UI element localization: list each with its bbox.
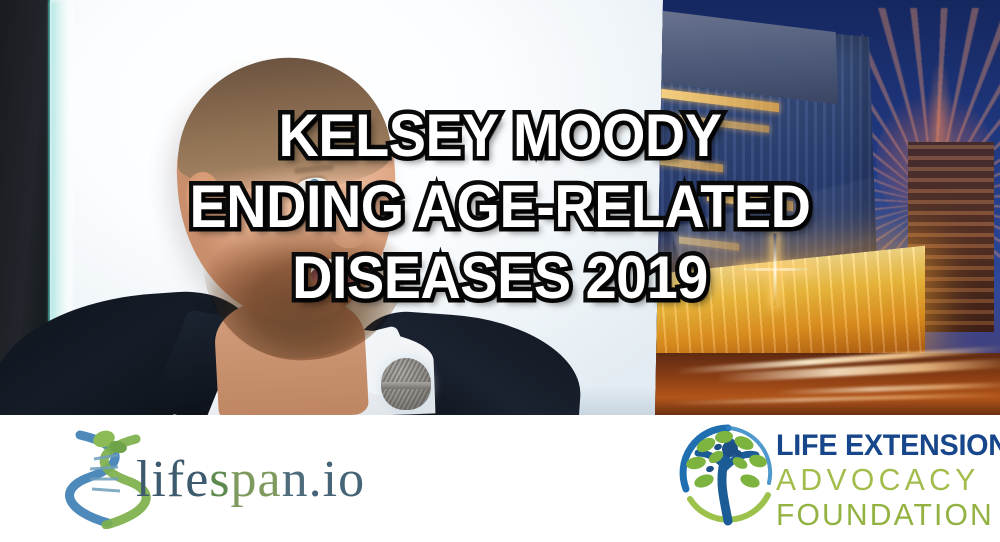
lens-flare-starburst bbox=[773, 268, 777, 272]
photo-collage: KELSEY MOODY ENDING AGE-RELATED DISEASES… bbox=[0, 0, 1000, 415]
wordmark-part: life bbox=[136, 451, 209, 508]
leaf-foundation-logo: LIFE EXTENSION ADVOCACY FOUNDATION bbox=[676, 421, 986, 537]
leaf-line-advocacy: ADVOCACY bbox=[776, 462, 982, 497]
wordmark-part: .io bbox=[309, 451, 365, 508]
wordmark-part: n bbox=[282, 451, 309, 508]
microphone-band bbox=[381, 382, 431, 389]
wordmark-part: pa bbox=[231, 451, 282, 508]
tree-person-circle-icon bbox=[676, 423, 780, 529]
building-photo bbox=[655, 0, 1000, 415]
leaf-line-life-extension: LIFE EXTENSION bbox=[776, 429, 980, 462]
video-thumbnail: KELSEY MOODY ENDING AGE-RELATED DISEASES… bbox=[0, 0, 1000, 542]
speaker-photo bbox=[0, 0, 672, 415]
lifespan-io-logo: lifespan.io bbox=[62, 423, 392, 533]
lifespan-io-wordmark: lifespan.io bbox=[136, 451, 365, 509]
sponsor-logo-bar: lifespan.io bbox=[0, 415, 1000, 542]
wordmark-part: s bbox=[209, 451, 230, 508]
leaf-wordmark: LIFE EXTENSION ADVOCACY FOUNDATION bbox=[776, 429, 988, 532]
leaf-line-foundation: FOUNDATION bbox=[776, 497, 982, 532]
